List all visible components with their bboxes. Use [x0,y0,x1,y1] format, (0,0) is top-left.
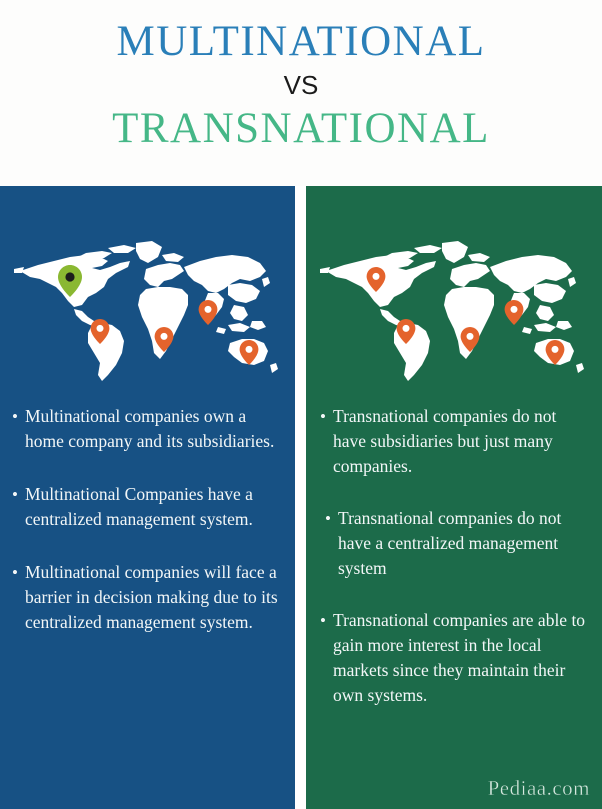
bullet-dot-icon: • [12,560,25,585]
map-pin-asia [505,300,524,325]
page-title-vs-separator: VS [284,72,319,98]
panel-transnational: • Transnational companies do not have su… [306,186,602,809]
panel-multinational: • Multinational companies own a home com… [0,186,295,809]
world-map-multinational [0,222,295,397]
bullet-list-transnational: • Transnational companies do not have su… [306,404,602,735]
world-map-icon [12,235,284,385]
list-item: • Multinational companies will face a ba… [12,560,281,635]
bullet-dot-icon: • [320,404,333,429]
list-item-text: Transnational companies do not have subs… [333,404,592,479]
list-item-text: Transnational companies do not have a ce… [338,506,592,581]
list-item: • Transnational companies do not have a … [320,506,592,581]
list-item: • Multinational Companies have a central… [12,482,281,532]
list-item-text: Multinational companies own a home compa… [25,404,281,454]
page-title-transnational: TRANSNATIONAL [112,107,490,150]
bullet-dot-icon: • [12,404,25,429]
list-item: • Transnational companies are able to ga… [320,608,592,708]
bullet-dot-icon: • [320,608,333,633]
watermark: Pediaa.com [488,776,590,801]
page-title-multinational: MULTINATIONAL [116,20,485,63]
panel-divider [295,186,306,809]
world-map-icon [318,235,590,385]
bullet-list-multinational: • Multinational companies own a home com… [0,404,295,663]
map-pin-asia [198,300,217,325]
list-item-text: Multinational Companies have a centraliz… [25,482,281,532]
world-map-transnational [306,222,602,397]
list-item: • Multinational companies own a home com… [12,404,281,454]
infographic-header: MULTINATIONAL VS TRANSNATIONAL [0,0,602,186]
list-item: • Transnational companies do not have su… [320,404,592,479]
list-item-text: Transnational companies are able to gain… [333,608,592,708]
bullet-dot-icon: • [325,506,338,531]
bullet-dot-icon: • [12,482,25,507]
list-item-text: Multinational companies will face a barr… [25,560,281,635]
comparison-panels: • Multinational companies own a home com… [0,186,602,809]
